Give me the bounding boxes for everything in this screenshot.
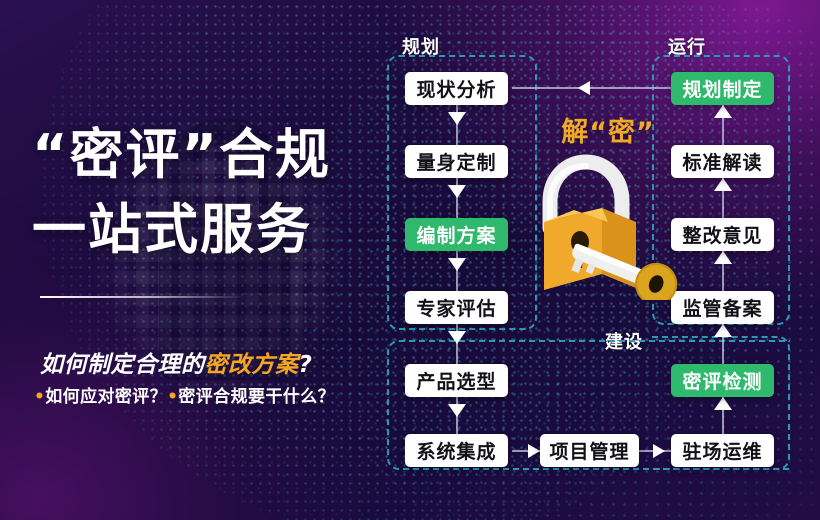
connector-arrow-p2 (448, 185, 466, 198)
connector-arrow-b1 (528, 444, 540, 458)
group-label-operation: 运行 (668, 33, 706, 59)
connector-arrow-o5 (714, 397, 732, 410)
flow-node-planning-1[interactable]: 现状分析 (405, 72, 508, 105)
padlock-key-icon (520, 150, 685, 300)
connector-arrow-o3 (714, 251, 732, 264)
connector-arrow-p4 (448, 331, 466, 344)
connector-arrow-o4 (714, 324, 732, 337)
flow-node-operation-4[interactable]: 监管备案 (671, 291, 774, 324)
connector-arrow-p5 (448, 404, 466, 417)
flow-node-project-management[interactable]: 项目管理 (540, 434, 639, 467)
group-label-construction: 建设 (605, 328, 643, 354)
connector-arrow-top-cross (578, 81, 590, 95)
flow-node-planning-4[interactable]: 专家评估 (405, 291, 508, 324)
connector-arrow-o1 (714, 105, 732, 118)
decrypt-label: 解“密” (528, 110, 688, 149)
group-label-planning: 规划 (402, 33, 440, 59)
lock-illustration: 解“密” (520, 110, 685, 300)
flow-node-planning-5[interactable]: 产品选型 (405, 364, 508, 397)
connector-arrow-p3 (448, 258, 466, 271)
connector-arrow-p1 (448, 112, 466, 125)
flow-node-operation-1[interactable]: 规划制定 (671, 72, 774, 105)
flow-node-operation-6[interactable]: 驻场运维 (671, 434, 774, 467)
flow-node-planning-2[interactable]: 量身定制 (405, 145, 508, 178)
connector-arrow-b2 (653, 444, 665, 458)
flow-node-operation-5[interactable]: 密评检测 (671, 364, 774, 397)
connector-arrow-o2 (714, 178, 732, 191)
flow-node-operation-3[interactable]: 整改意见 (671, 218, 774, 251)
connector-line-top-cross (512, 87, 674, 89)
flow-node-planning-6[interactable]: 系统集成 (405, 434, 508, 467)
process-flow-diagram: 规划 运行 建设 (0, 0, 820, 520)
flow-node-planning-3[interactable]: 编制方案 (405, 218, 508, 251)
poster-canvas: “密评”合规 一站式服务 如何制定合理的密改方案? •如何应对密评？•密评合规要… (0, 0, 820, 520)
flow-node-operation-2[interactable]: 标准解读 (671, 145, 774, 178)
